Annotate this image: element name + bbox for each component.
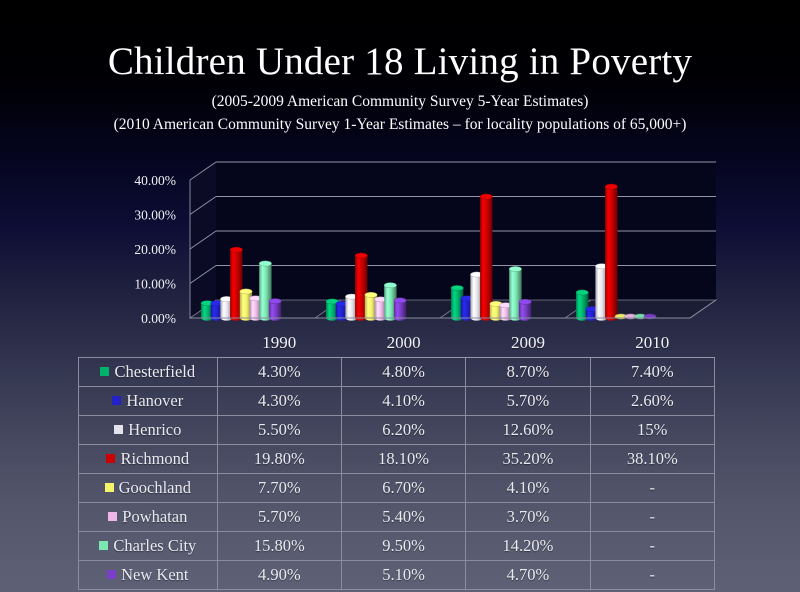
y-axis-tick-label: 40.00%	[134, 173, 176, 188]
bar-body	[480, 197, 492, 321]
subtitle-line-2: (2010 American Community Survey 1-Year E…	[0, 113, 800, 136]
bar-top-ellipse	[355, 253, 367, 258]
legend-entry-henrico: Henrico	[79, 416, 218, 445]
bar-richmond-2009	[480, 194, 492, 321]
legend-label: Henrico	[128, 420, 181, 439]
bar-top-ellipse	[605, 184, 617, 189]
legend-swatch-icon	[112, 396, 121, 405]
table-cell: 4.90%	[217, 561, 341, 590]
legend-label: New Kent	[121, 565, 188, 584]
legend-swatch-icon	[105, 483, 114, 492]
table-row: New Kent4.90%5.10%4.70%-	[79, 561, 715, 590]
bar-body	[605, 187, 617, 321]
table-cell: 4.30%	[217, 358, 341, 387]
legend-entry-charles-city: Charles City	[79, 532, 218, 561]
table-row: Henrico5.50%6.20%12.60%15%	[79, 416, 715, 445]
table-cell: -	[590, 532, 714, 561]
bar-top-ellipse	[230, 247, 242, 252]
table-header-2000: 2000	[341, 330, 465, 358]
bar-top-ellipse	[480, 194, 492, 199]
legend-swatch-icon	[114, 425, 123, 434]
table-cell: 35.20%	[466, 445, 590, 474]
legend-label: Goochland	[119, 478, 191, 497]
bar-top-ellipse	[519, 299, 531, 304]
table-cell: 2.60%	[590, 387, 714, 416]
table-header-2010: 2010	[590, 330, 714, 358]
data-table-container: 1990 2000 2009 2010 Chesterfield4.30%4.8…	[78, 330, 715, 590]
table-cell: 5.50%	[217, 416, 341, 445]
legend-label: Powhatan	[122, 507, 187, 526]
legend-swatch-icon	[100, 367, 109, 376]
bar-top-ellipse	[451, 285, 463, 290]
table-cell: 5.10%	[341, 561, 465, 590]
legend-entry-new-kent: New Kent	[79, 561, 218, 590]
y-axis-tick-label: 10.00%	[134, 277, 176, 292]
legend-entry-chesterfield: Chesterfield	[79, 358, 218, 387]
legend-swatch-icon	[99, 541, 108, 550]
bar-new-kent-1990	[269, 298, 281, 320]
table-header-corner	[79, 330, 218, 358]
bar-new-kent-2000	[394, 298, 406, 321]
table-cell: 4.30%	[217, 387, 341, 416]
poverty-data-table: 1990 2000 2009 2010 Chesterfield4.30%4.8…	[78, 330, 715, 590]
table-cell: -	[590, 474, 714, 503]
table-cell: 7.40%	[590, 358, 714, 387]
y-axis-tick-label: 20.00%	[134, 242, 176, 257]
poverty-bar-chart: 0.00%10.00%20.00%30.00%40.00%19902000200…	[0, 150, 800, 330]
table-cell: 4.70%	[466, 561, 590, 590]
legend-entry-richmond: Richmond	[79, 445, 218, 474]
table-cell: -	[590, 561, 714, 590]
table-cell: 4.10%	[341, 387, 465, 416]
table-cell: 3.70%	[466, 503, 590, 532]
table-row: Richmond19.80%18.10%35.20%38.10%	[79, 445, 715, 474]
table-cell: 6.70%	[341, 474, 465, 503]
table-cell: 12.60%	[466, 416, 590, 445]
table-cell: 8.70%	[466, 358, 590, 387]
legend-entry-powhatan: Powhatan	[79, 503, 218, 532]
subtitle-line-1: (2005-2009 American Community Survey 5-Y…	[0, 84, 800, 113]
table-cell: 5.70%	[217, 503, 341, 532]
legend-swatch-icon	[108, 512, 117, 521]
page-title: Children Under 18 Living in Poverty	[0, 0, 800, 84]
y-axis-tick-label: 30.00%	[134, 208, 176, 223]
table-cell: 15.80%	[217, 532, 341, 561]
legend-entry-hanover: Hanover	[79, 387, 218, 416]
table-cell: 9.50%	[341, 532, 465, 561]
table-cell: 6.20%	[341, 416, 465, 445]
table-body: Chesterfield4.30%4.80%8.70%7.40%Hanover4…	[79, 358, 715, 590]
legend-swatch-icon	[106, 454, 115, 463]
y-axis-tick-label: 0.00%	[141, 311, 176, 326]
table-header-1990: 1990	[217, 330, 341, 358]
bar-top-ellipse	[576, 290, 588, 295]
legend-label: Chesterfield	[114, 362, 195, 381]
bar-top-ellipse	[259, 261, 271, 266]
legend-entry-goochland: Goochland	[79, 474, 218, 503]
table-cell: 38.10%	[590, 445, 714, 474]
table-cell: 14.20%	[466, 532, 590, 561]
table-row: Charles City15.80%9.50%14.20%-	[79, 532, 715, 561]
table-header-2009: 2009	[466, 330, 590, 358]
bar-top-ellipse	[509, 266, 521, 271]
table-row: Chesterfield4.30%4.80%8.70%7.40%	[79, 358, 715, 387]
table-cell: 19.80%	[217, 445, 341, 474]
table-header-row: 1990 2000 2009 2010	[79, 330, 715, 358]
table-cell: 4.10%	[466, 474, 590, 503]
bar-top-ellipse	[269, 298, 281, 303]
bar-top-ellipse	[240, 289, 252, 294]
chart-canvas: 0.00%10.00%20.00%30.00%40.00%19902000200…	[0, 150, 800, 332]
table-row: Powhatan5.70%5.40%3.70%-	[79, 503, 715, 532]
legend-label: Hanover	[126, 391, 183, 410]
legend-swatch-icon	[107, 570, 116, 579]
bar-richmond-2010	[605, 184, 617, 321]
bar-top-ellipse	[365, 292, 377, 297]
table-cell: 7.70%	[217, 474, 341, 503]
title-block: Children Under 18 Living in Poverty (200…	[0, 0, 800, 136]
table-row: Goochland7.70%6.70%4.10%-	[79, 474, 715, 503]
table-cell: 15%	[590, 416, 714, 445]
table-row: Hanover4.30%4.10%5.70%2.60%	[79, 387, 715, 416]
table-head: 1990 2000 2009 2010	[79, 330, 715, 358]
legend-label: Richmond	[120, 449, 189, 468]
table-cell: 18.10%	[341, 445, 465, 474]
legend-label: Charles City	[113, 536, 196, 555]
bar-top-ellipse	[394, 298, 406, 303]
table-cell: 5.70%	[466, 387, 590, 416]
bar-top-ellipse	[384, 283, 396, 288]
table-cell: 5.40%	[341, 503, 465, 532]
bar-new-kent-2009	[519, 299, 531, 320]
table-cell: 4.80%	[341, 358, 465, 387]
table-cell: -	[590, 503, 714, 532]
